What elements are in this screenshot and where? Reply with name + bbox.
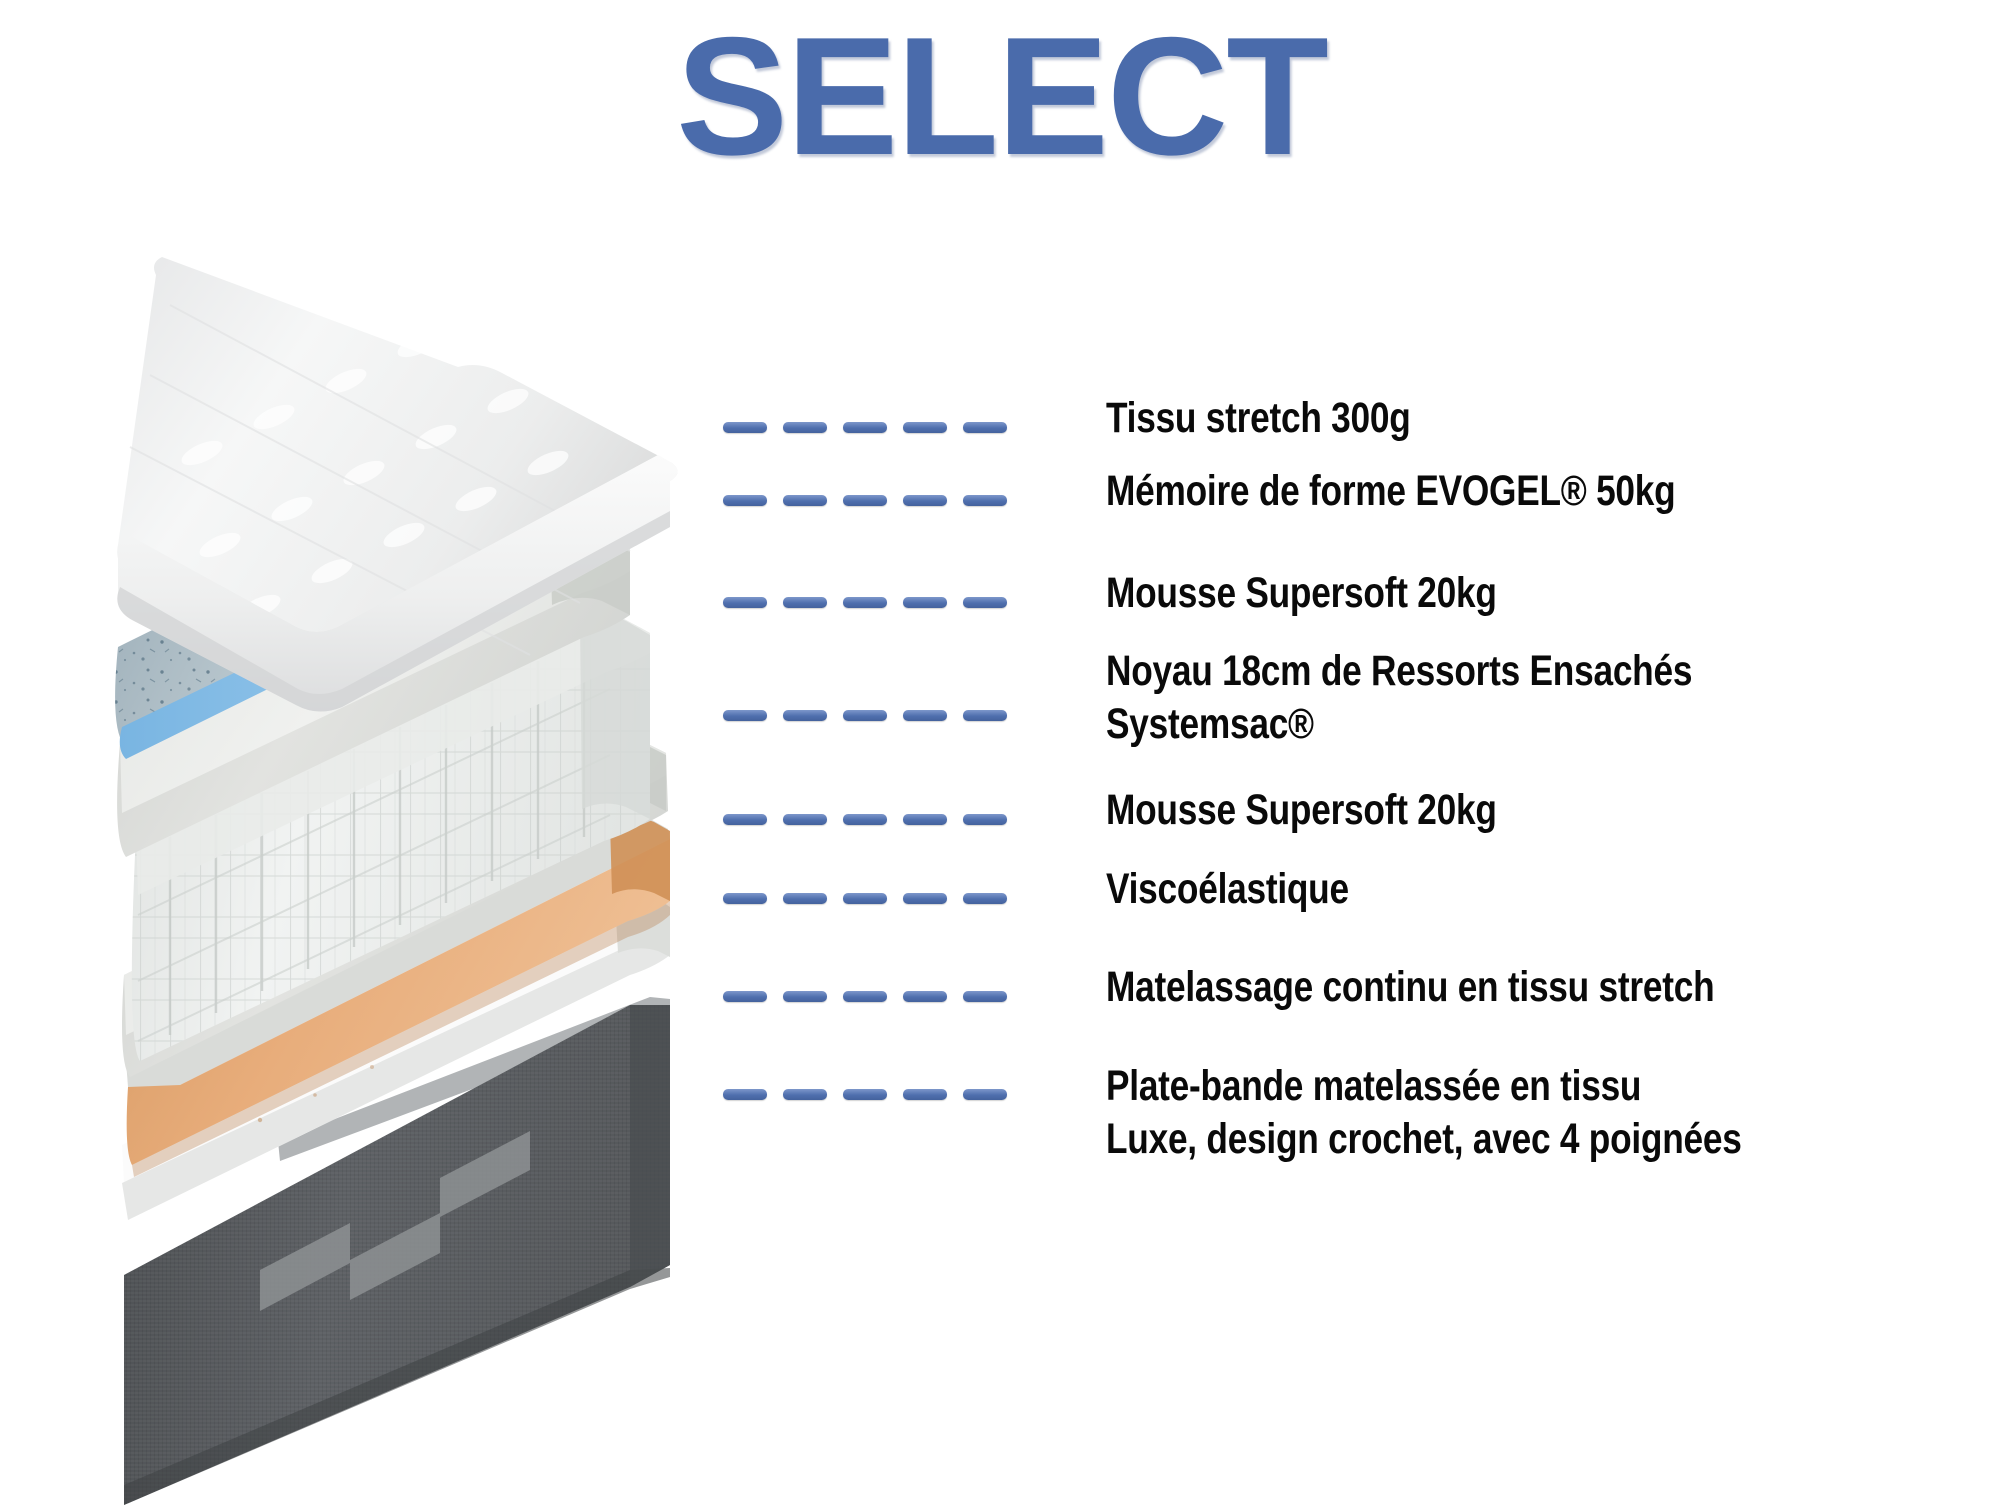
dash-line-mousse-supersoft-haut — [723, 597, 1007, 608]
dash-segment — [903, 495, 947, 506]
dash-segment — [723, 422, 767, 433]
dash-segment — [903, 814, 947, 825]
callout-label-plate-bande: Plate-bande matelassée en tissu Luxe, de… — [1106, 1060, 1742, 1167]
dash-line-viscoelastique — [723, 893, 1007, 904]
dash-segment — [723, 893, 767, 904]
dash-line-matelassage-continu — [723, 991, 1007, 1002]
callout-label-tissu-stretch: Tissu stretch 300g — [1106, 392, 1411, 445]
dash-segment — [783, 1089, 827, 1100]
dash-line-mousse-supersoft-bas — [723, 814, 1007, 825]
dash-segment — [843, 814, 887, 825]
dash-line-plate-bande — [723, 1089, 1007, 1100]
exploded-mattress-illustration — [110, 215, 900, 1505]
page-title: SELECT — [0, 8, 2003, 184]
dash-segment — [843, 597, 887, 608]
dash-segment — [903, 1089, 947, 1100]
dash-segment — [723, 814, 767, 825]
dash-segment — [723, 991, 767, 1002]
dash-segment — [843, 710, 887, 721]
dash-segment — [963, 710, 1007, 721]
dash-line-noyau-ressorts — [723, 710, 1007, 721]
dash-segment — [843, 422, 887, 433]
dash-segment — [903, 422, 947, 433]
dash-segment — [903, 991, 947, 1002]
dash-segment — [963, 597, 1007, 608]
dash-segment — [903, 597, 947, 608]
dash-segment — [783, 814, 827, 825]
dash-segment — [963, 893, 1007, 904]
dash-line-tissu-stretch — [723, 422, 1007, 433]
dash-segment — [723, 495, 767, 506]
dash-segment — [783, 893, 827, 904]
callout-label-noyau-ressorts: Noyau 18cm de Ressorts Ensachés Systemsa… — [1106, 645, 1692, 752]
dash-segment — [783, 597, 827, 608]
dash-segment — [783, 495, 827, 506]
dash-segment — [783, 991, 827, 1002]
dash-segment — [843, 1089, 887, 1100]
dash-segment — [963, 814, 1007, 825]
dash-line-memoire-evogel — [723, 495, 1007, 506]
dash-segment — [903, 893, 947, 904]
dash-segment — [903, 710, 947, 721]
callout-label-mousse-supersoft-haut: Mousse Supersoft 20kg — [1106, 567, 1497, 620]
dash-segment — [963, 495, 1007, 506]
callout-label-viscoelastique: Viscoélastique — [1106, 863, 1349, 916]
dash-segment — [723, 1089, 767, 1100]
dash-segment — [963, 991, 1007, 1002]
dash-segment — [783, 710, 827, 721]
dash-segment — [723, 597, 767, 608]
dash-segment — [723, 710, 767, 721]
callout-label-memoire-evogel: Mémoire de forme EVOGEL® 50kg — [1106, 465, 1675, 518]
callout-label-mousse-supersoft-bas: Mousse Supersoft 20kg — [1106, 784, 1497, 837]
dash-segment — [963, 422, 1007, 433]
dash-segment — [843, 991, 887, 1002]
dash-segment — [963, 1089, 1007, 1100]
dash-segment — [843, 893, 887, 904]
dash-segment — [783, 422, 827, 433]
dash-segment — [843, 495, 887, 506]
callout-label-matelassage-continu: Matelassage continu en tissu stretch — [1106, 961, 1714, 1014]
